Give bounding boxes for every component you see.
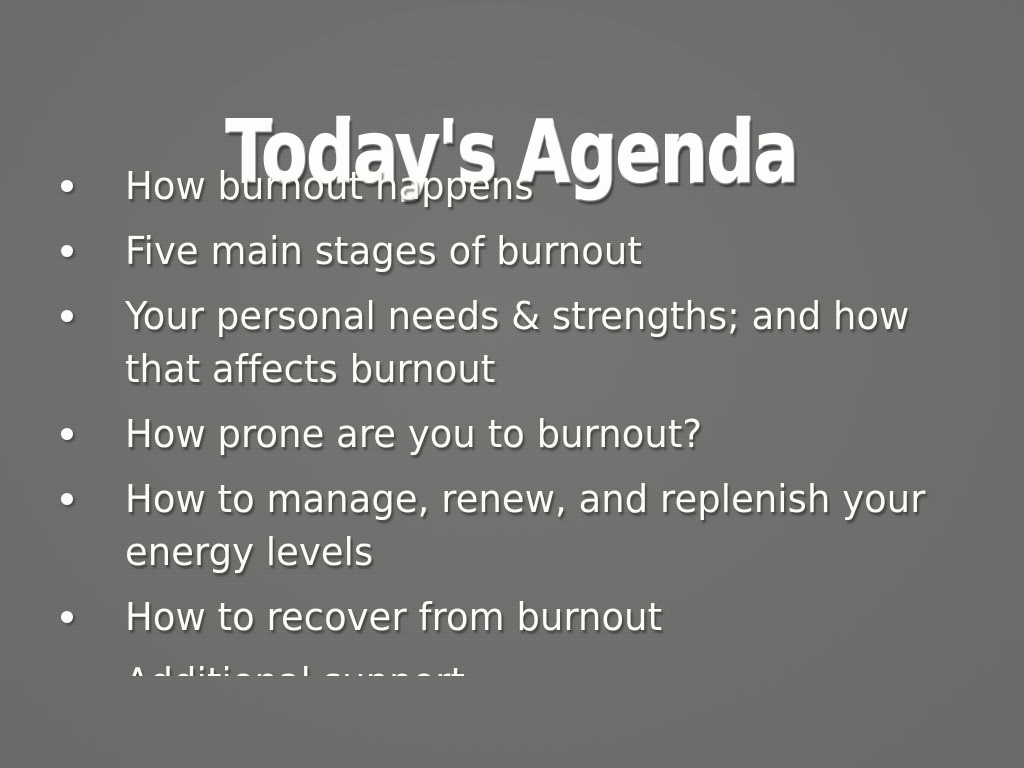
list-item-label: Five main stages of burnout [125,225,958,278]
bullet-dot-icon [61,310,73,322]
list-item-label: Additional support [125,656,958,676]
list-item-label: How burnout happens [125,160,958,213]
presentation-slide: Today's Agenda How burnout happens Five … [0,0,1024,768]
list-item: How to manage, renew, and replenish your… [0,473,1024,579]
list-item-label: How prone are you to burnout? [125,408,958,461]
list-item: How prone are you to burnout? [0,408,1024,461]
list-item: Five main stages of burnout [0,225,1024,278]
list-item: How to recover from burnout [0,591,1024,644]
bullet-dot-icon [61,493,73,505]
bullet-dot-icon [61,428,73,440]
list-item: Additional support [0,656,1024,676]
list-item: How burnout happens [0,160,1024,213]
bullet-dot-icon [61,611,73,623]
list-item-label: How to manage, renew, and replenish your… [125,473,958,579]
list-item-label: Your personal needs & strengths; and how… [125,290,958,396]
bullet-dot-icon [61,245,73,257]
agenda-bullet-list: How burnout happens Five main stages of … [0,160,1024,676]
list-item-label: How to recover from burnout [125,591,958,644]
bullet-dot-icon [61,180,73,192]
list-item: Your personal needs & strengths; and how… [0,290,1024,396]
